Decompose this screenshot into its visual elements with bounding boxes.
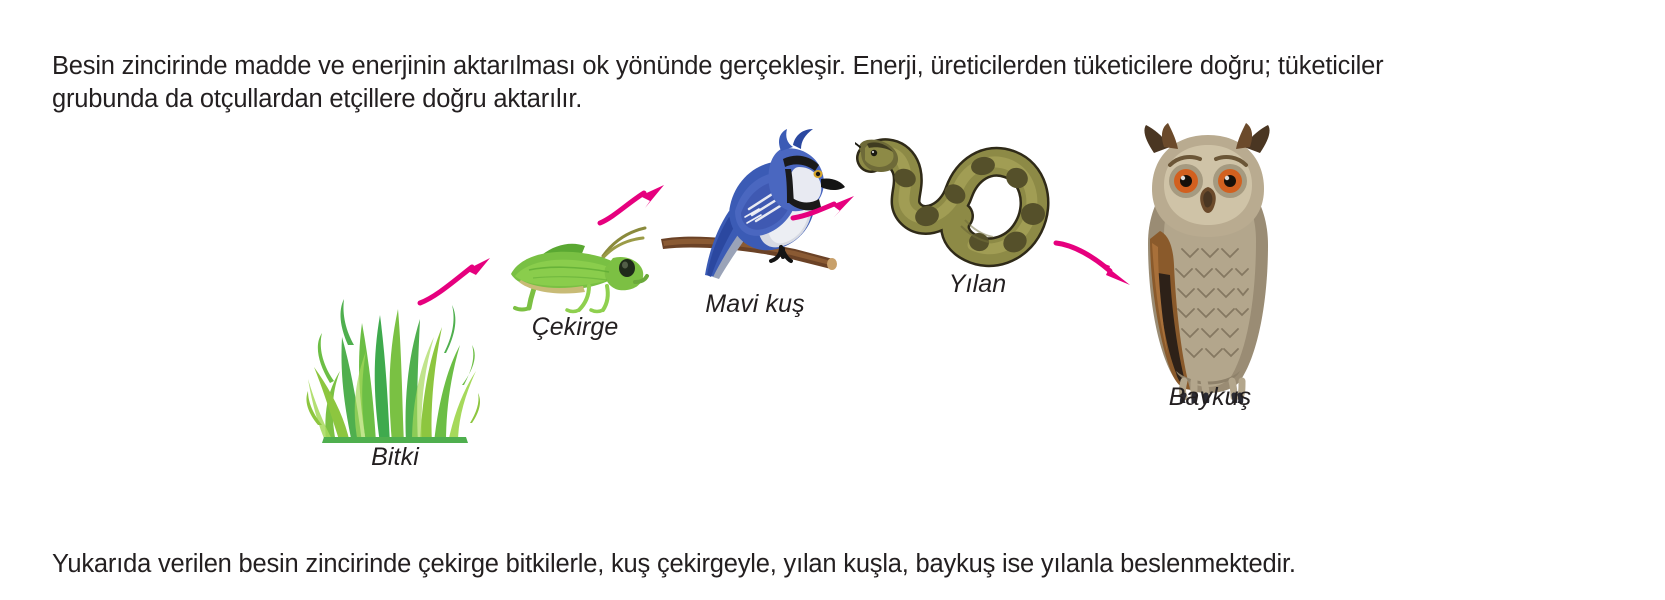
food-chain-diagram: Bitki [0, 105, 1665, 505]
food-chain-page: Besin zincirinde madde ve enerjinin akta… [0, 0, 1665, 600]
arrow-plant-to-grasshopper [416, 253, 496, 308]
curved-arrow-icon [790, 190, 858, 225]
food-chain-node-owl [1120, 123, 1295, 403]
food-chain-node-grasshopper [485, 220, 650, 320]
owl-illustration [1120, 123, 1295, 403]
food-chain-label-bird: Mavi kuş [640, 290, 870, 319]
closing-paragraph: Yukarıda verilen besin zincirinde çekirg… [52, 548, 1532, 582]
arrow-bird-to-snake [790, 190, 858, 225]
food-chain-label-owl: Baykuş [1090, 383, 1330, 412]
food-chain-label-snake: Yılan [885, 270, 1070, 299]
food-chain-label-plant: Bitki [300, 443, 490, 472]
curved-arrow-icon [416, 253, 496, 308]
grasshopper-illustration [485, 220, 650, 320]
